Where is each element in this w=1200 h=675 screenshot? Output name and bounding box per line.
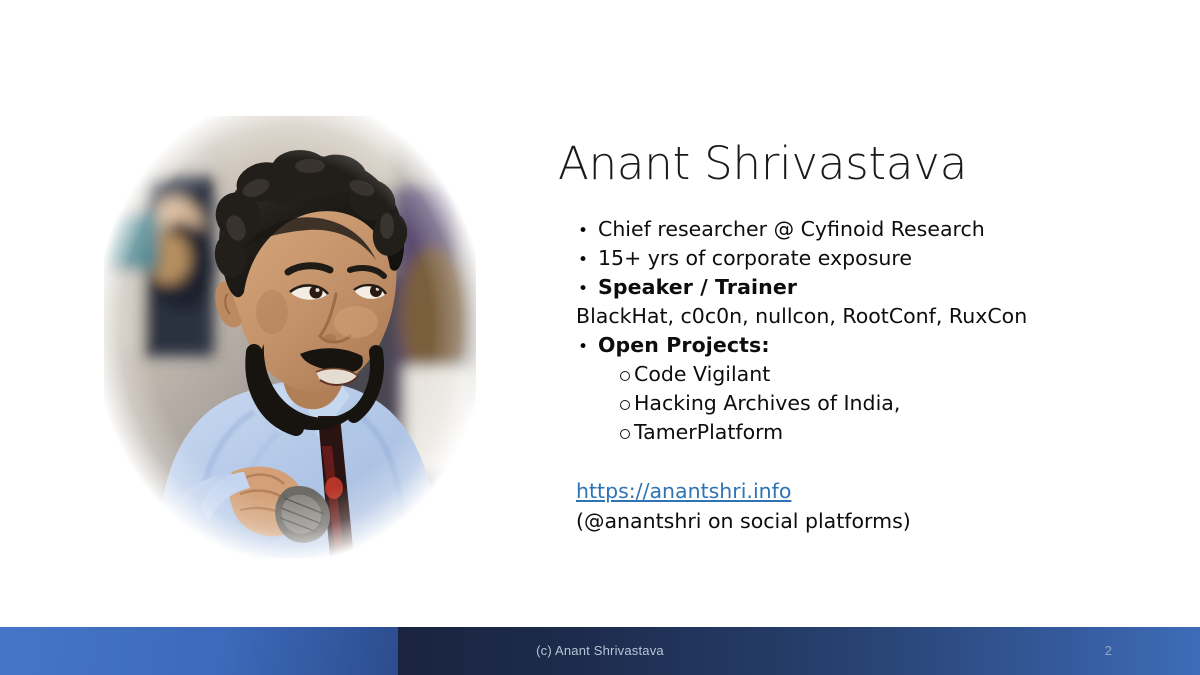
website-link[interactable]: https://anantshri.info <box>576 477 791 506</box>
list-item-label: Chief researcher @ Cyfinoid Research <box>598 215 1176 244</box>
list-item-label: Code Vigilant <box>634 360 1176 389</box>
bullet-icon: • <box>556 219 598 243</box>
sub-bullet-icon <box>556 369 634 387</box>
bullet-icon: • <box>556 248 598 272</box>
list-item-label: Hacking Archives of India, <box>634 389 1176 418</box>
footer-copyright: (c) Anant Shrivastava <box>0 627 1200 675</box>
page-number: 2 <box>1105 627 1112 675</box>
list-item-label: Open Projects: <box>598 331 1176 360</box>
portrait-illustration <box>104 116 476 558</box>
page-title: Anant Shrivastava <box>558 140 1176 189</box>
conference-list: BlackHat, c0c0n, nullcon, RootConf, RuxC… <box>556 302 1176 331</box>
bullet-list: • Chief researcher @ Cyfinoid Research •… <box>556 215 1176 448</box>
bullet-icon: • <box>556 335 598 359</box>
social-handle: (@anantshri on social platforms) <box>576 507 1176 536</box>
slide-footer: (c) Anant Shrivastava 2 <box>0 627 1200 675</box>
list-item-label: 15+ yrs of corporate exposure <box>598 244 1176 273</box>
list-item-label: Speaker / Trainer <box>598 273 1176 302</box>
list-item: TamerPlatform <box>556 418 1176 447</box>
list-item: • Chief researcher @ Cyfinoid Research <box>556 215 1176 244</box>
list-item: Code Vigilant <box>556 360 1176 389</box>
portrait-photo <box>104 116 476 558</box>
links-block: https://anantshri.info (@anantshri on so… <box>556 477 1176 535</box>
list-item: Hacking Archives of India, <box>556 389 1176 418</box>
list-item: • 15+ yrs of corporate exposure <box>556 244 1176 273</box>
slide-canvas: Anant Shrivastava • Chief researcher @ C… <box>0 0 1200 675</box>
list-item: • Open Projects: <box>556 331 1176 360</box>
list-item-label: TamerPlatform <box>634 418 1176 447</box>
sub-bullet-icon <box>556 398 634 416</box>
sub-bullet-icon <box>556 427 634 445</box>
bullet-icon: • <box>556 277 598 301</box>
content-column: Anant Shrivastava • Chief researcher @ C… <box>556 140 1176 536</box>
list-item: • Speaker / Trainer <box>556 273 1176 302</box>
